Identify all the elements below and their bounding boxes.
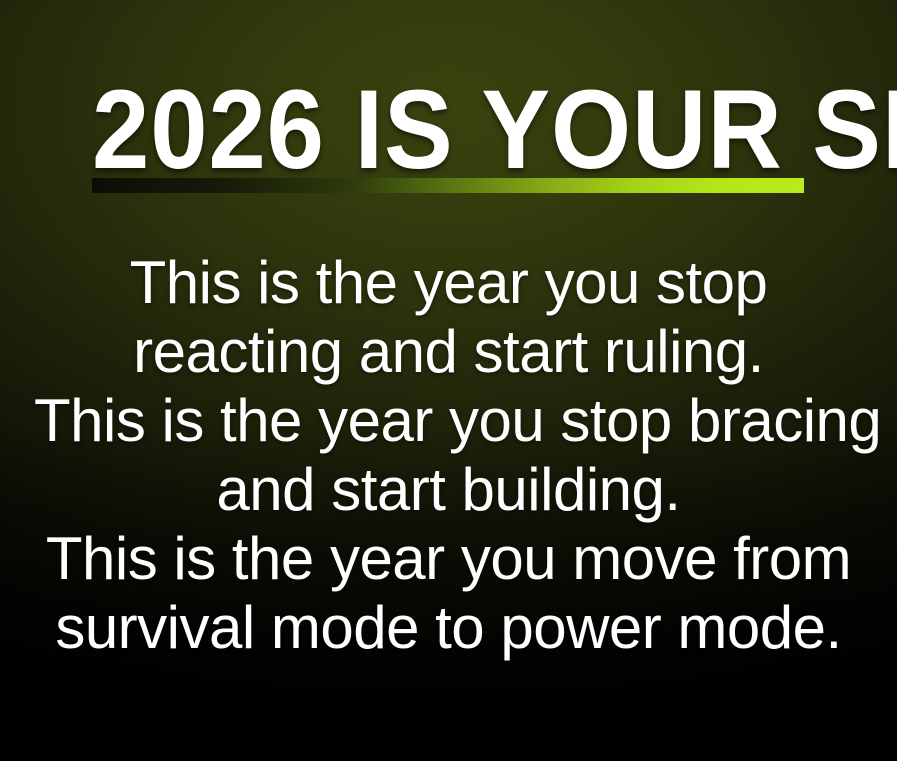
body-line-4: and start building. — [34, 455, 863, 524]
poster-canvas: 2026 IS YOUR SHIFT This is the year you … — [0, 0, 897, 761]
body-line-5: This is the year you move from — [34, 524, 863, 593]
headline-block: 2026 IS YOUR SHIFT — [92, 78, 804, 182]
body-line-2: reacting and start ruling. — [34, 317, 863, 386]
body-line-3: This is the year you stop bracing — [34, 386, 863, 455]
body-copy-block: This is the year you stop reacting and s… — [0, 248, 897, 662]
poster-content: 2026 IS YOUR SHIFT This is the year you … — [0, 0, 897, 761]
body-line-1: This is the year you stop — [34, 248, 863, 317]
page-title: 2026 IS YOUR SHIFT — [92, 78, 747, 182]
headline-accent-underline — [92, 178, 804, 193]
body-line-6: survival mode to power mode. — [34, 593, 863, 662]
